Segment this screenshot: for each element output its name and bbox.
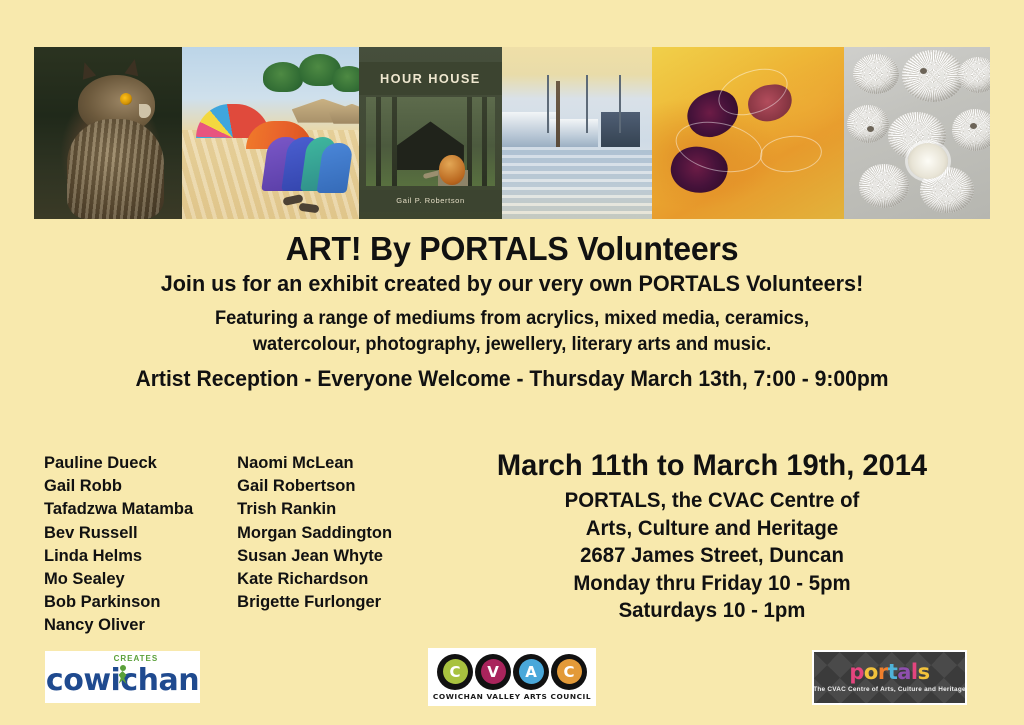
artwork-image-strip: HOUR HOUSE Gail P. Robertson (34, 47, 990, 219)
mediums-line-2: watercolour, photography, jewellery, lit… (20, 332, 1003, 358)
venue-street-address: 2687 James Street, Duncan (460, 542, 964, 570)
poster-mediums-description: Featuring a range of mediums from acryli… (20, 306, 1003, 358)
cvac-letter: C (557, 659, 582, 684)
artist-name: Gail Robb (44, 475, 193, 498)
mediums-line-1: Featuring a range of mediums from acryli… (20, 306, 1003, 332)
portals-tagline: The CVAC Centre of Arts, Culture and Her… (813, 686, 966, 693)
artwork-panel-hour-house-book-cover: HOUR HOUSE Gail P. Robertson (359, 47, 502, 219)
shell-aperture-shape (920, 68, 927, 74)
owl-ear-tuft-right-icon (124, 58, 141, 77)
poster-canvas: HOUR HOUSE Gail P. Robertson (0, 0, 1024, 725)
venue-hours-weekday: Monday thru Friday 10 - 5pm (460, 570, 964, 598)
artwork-panel-harbour-watercolour (502, 47, 652, 219)
owl-ear-tuft-left-icon (78, 61, 96, 81)
artist-name: Bev Russell (44, 522, 193, 545)
portals-wordmark: portals (849, 662, 929, 683)
exhibit-dates: March 11th to March 19th, 2014 (460, 447, 964, 485)
artist-name: Brigette Furlonger (237, 591, 392, 614)
artwork-panel-owl-photograph (34, 47, 182, 219)
portals-letter: s (918, 660, 930, 684)
book-author: Gail P. Robertson (396, 196, 464, 205)
cvac-circle-a: A (513, 654, 549, 690)
artist-name: Nancy Oliver (44, 614, 193, 637)
artist-column-2: Naomi McLean Gail Robertson Trish Rankin… (237, 452, 392, 638)
shell-aperture-shape (970, 123, 977, 129)
portals-letter: a (897, 660, 911, 684)
portals-letter: r (878, 660, 888, 684)
sea-urchin-shell-shape (853, 54, 899, 94)
venue-details: March 11th to March 19th, 2014 PORTALS, … (452, 447, 972, 625)
artist-name: Morgan Saddington (237, 522, 392, 545)
artist-name: Trish Rankin (237, 498, 392, 521)
cvac-logo: C V A C COWICHAN VALLEY ARTS COUNCIL (428, 648, 596, 706)
tree-trunk-shape (482, 97, 487, 186)
sea-urchin-shell-shape (847, 105, 889, 143)
figure-head-shape (439, 155, 465, 185)
cowichan-figure-icon (115, 665, 131, 687)
cvac-letter-circles: C V A C (437, 654, 587, 690)
cvac-circle-c2: C (551, 654, 587, 690)
artist-name: Gail Robertson (237, 475, 392, 498)
artist-name: Naomi McLean (237, 452, 392, 475)
artist-name: Bob Parkinson (44, 591, 193, 614)
owl-body-shape (67, 119, 165, 219)
cvac-letter: V (481, 659, 506, 684)
mast-shape (619, 75, 621, 133)
portals-letter: o (864, 660, 878, 684)
artist-name: Mo Sealey (44, 568, 193, 591)
cowichan-creates-arc-text: CREATES (114, 654, 159, 663)
cvac-circle-c1: C (437, 654, 473, 690)
cvac-caption: COWICHAN VALLEY ARTS COUNCIL (433, 692, 591, 701)
artist-name: Pauline Dueck (44, 452, 193, 475)
tree-trunk-shape (376, 97, 381, 186)
cowichan-creates-logo: CREATES cowichan (45, 651, 200, 703)
artist-column-1: Pauline Dueck Gail Robb Tafadzwa Matamba… (44, 452, 193, 638)
sea-urchin-shell-shape (958, 57, 990, 93)
cowichan-logo-content: CREATES cowichan (45, 651, 200, 703)
palm-tree-shape (332, 66, 359, 92)
venue-hours-saturday: Saturdays 10 - 1pm (460, 597, 964, 625)
book-title: HOUR HOUSE (380, 72, 481, 86)
portals-letter: t (888, 660, 898, 684)
artist-reception-info: Artist Reception - Everyone Welcome - Th… (20, 366, 1003, 392)
venue-name-line-1: PORTALS, the CVAC Centre of (460, 487, 964, 515)
book-cover-illustration (366, 97, 495, 186)
poster-subheadline: Join us for an exhibit created by our ve… (20, 271, 1003, 297)
sea-urchin-shell-shape (859, 164, 909, 208)
cvac-circle-v: V (475, 654, 511, 690)
artist-name: Kate Richardson (237, 568, 392, 591)
venue-name-line-2: Arts, Culture and Heritage (460, 515, 964, 543)
mast-shape (586, 75, 588, 133)
sea-urchin-shell-shape (902, 50, 964, 102)
artist-name: Linda Helms (44, 545, 193, 568)
artist-name: Susan Jean Whyte (237, 545, 392, 568)
palm-tree-shape (263, 62, 303, 92)
portals-letter: l (911, 660, 918, 684)
portals-letter: p (849, 660, 864, 684)
cvac-letter: A (519, 659, 544, 684)
sea-urchin-shell-shape (952, 109, 990, 151)
tree-trunk-shape (392, 97, 397, 186)
petal-outline-shape (758, 133, 823, 175)
portals-logo: portals The CVAC Centre of Arts, Culture… (812, 650, 967, 705)
mast-shape (547, 75, 549, 133)
book-title-band: HOUR HOUSE (359, 62, 502, 95)
artist-name: Tafadzwa Matamba (44, 498, 193, 521)
artwork-panel-abstract-floral-painting (652, 47, 844, 219)
artwork-panel-beach-painting (182, 47, 359, 219)
figure-body-icon (119, 671, 127, 684)
poster-headline: ART! By PORTALS Volunteers (15, 230, 1008, 268)
book-author-band: Gail P. Robertson (359, 190, 502, 212)
cvac-letter: C (443, 659, 468, 684)
venue-address-block: PORTALS, the CVAC Centre of Arts, Cultur… (452, 487, 972, 625)
artist-name-list: Pauline Dueck Gail Robb Tafadzwa Matamba… (44, 452, 392, 638)
artwork-panel-sea-urchin-photograph (844, 47, 990, 219)
figure-head-icon (120, 665, 126, 671)
water-reflection-shape (502, 147, 652, 219)
